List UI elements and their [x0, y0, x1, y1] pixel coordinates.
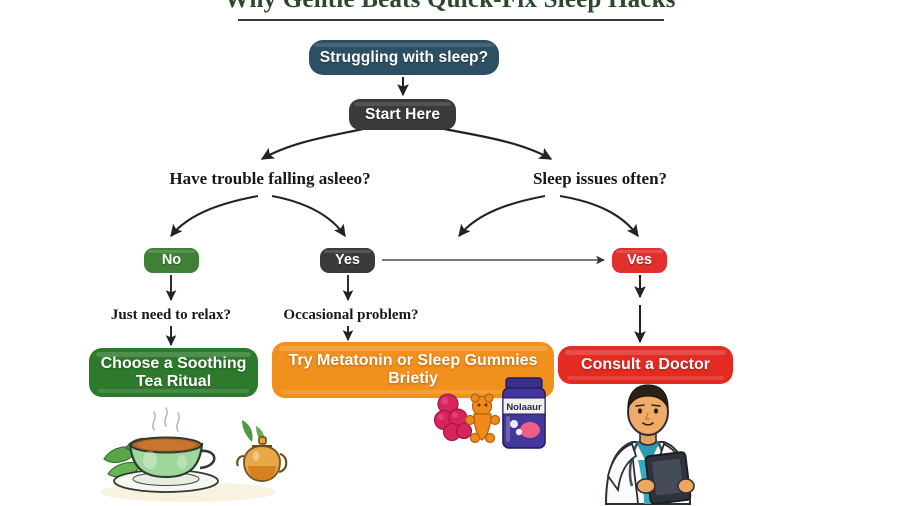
- result-gummies-line2: Brietiy: [388, 370, 438, 387]
- pill-yes[interactable]: Yes: [320, 248, 375, 273]
- arrow-start-to-question-right: [444, 129, 551, 159]
- result-choose-soothing-tea-ritual[interactable]: Choose a Soothing Tea Ritual: [89, 348, 258, 397]
- question-trouble-falling-asleep: Have trouble falling asleeo?: [120, 169, 420, 189]
- moon-icon: [209, 416, 224, 446]
- question-occasional-problem: Occasional problem?: [240, 307, 462, 324]
- doctor-illustration: [586, 382, 710, 504]
- question-sleep-issues-often: Sleep issues often?: [450, 169, 750, 189]
- node-struggling-with-sleep[interactable]: Struggling with sleep?: [309, 40, 499, 75]
- tea-illustration: [96, 404, 288, 504]
- arrow-question-right-to-ves: [560, 196, 638, 236]
- result-doctor-label: Consult a Doctor: [581, 356, 710, 374]
- result-tea-line2: Tea Ritual: [136, 373, 211, 390]
- arrow-question-left-to-no: [171, 196, 258, 236]
- arrow-question-left-to-yes: [272, 196, 345, 236]
- arrow-start-to-question-left: [262, 129, 363, 159]
- node-start-here[interactable]: Start Here: [349, 99, 456, 130]
- flowchart-canvas: Why Gentle Beats Quick-Fix Sleep Hacks: [0, 0, 900, 506]
- arrow-question-right-dangling: [459, 196, 545, 236]
- pill-no[interactable]: No: [144, 248, 199, 273]
- result-tea-line1: Choose a Soothing: [101, 355, 247, 372]
- pill-yes-right[interactable]: Ves: [612, 248, 667, 273]
- result-consult-a-doctor[interactable]: Consult a Doctor: [558, 346, 733, 384]
- result-gummies-line1: Try Metatonin or Sleep Gummies: [289, 352, 538, 369]
- bottle-label-text: Nolaaur: [506, 402, 542, 413]
